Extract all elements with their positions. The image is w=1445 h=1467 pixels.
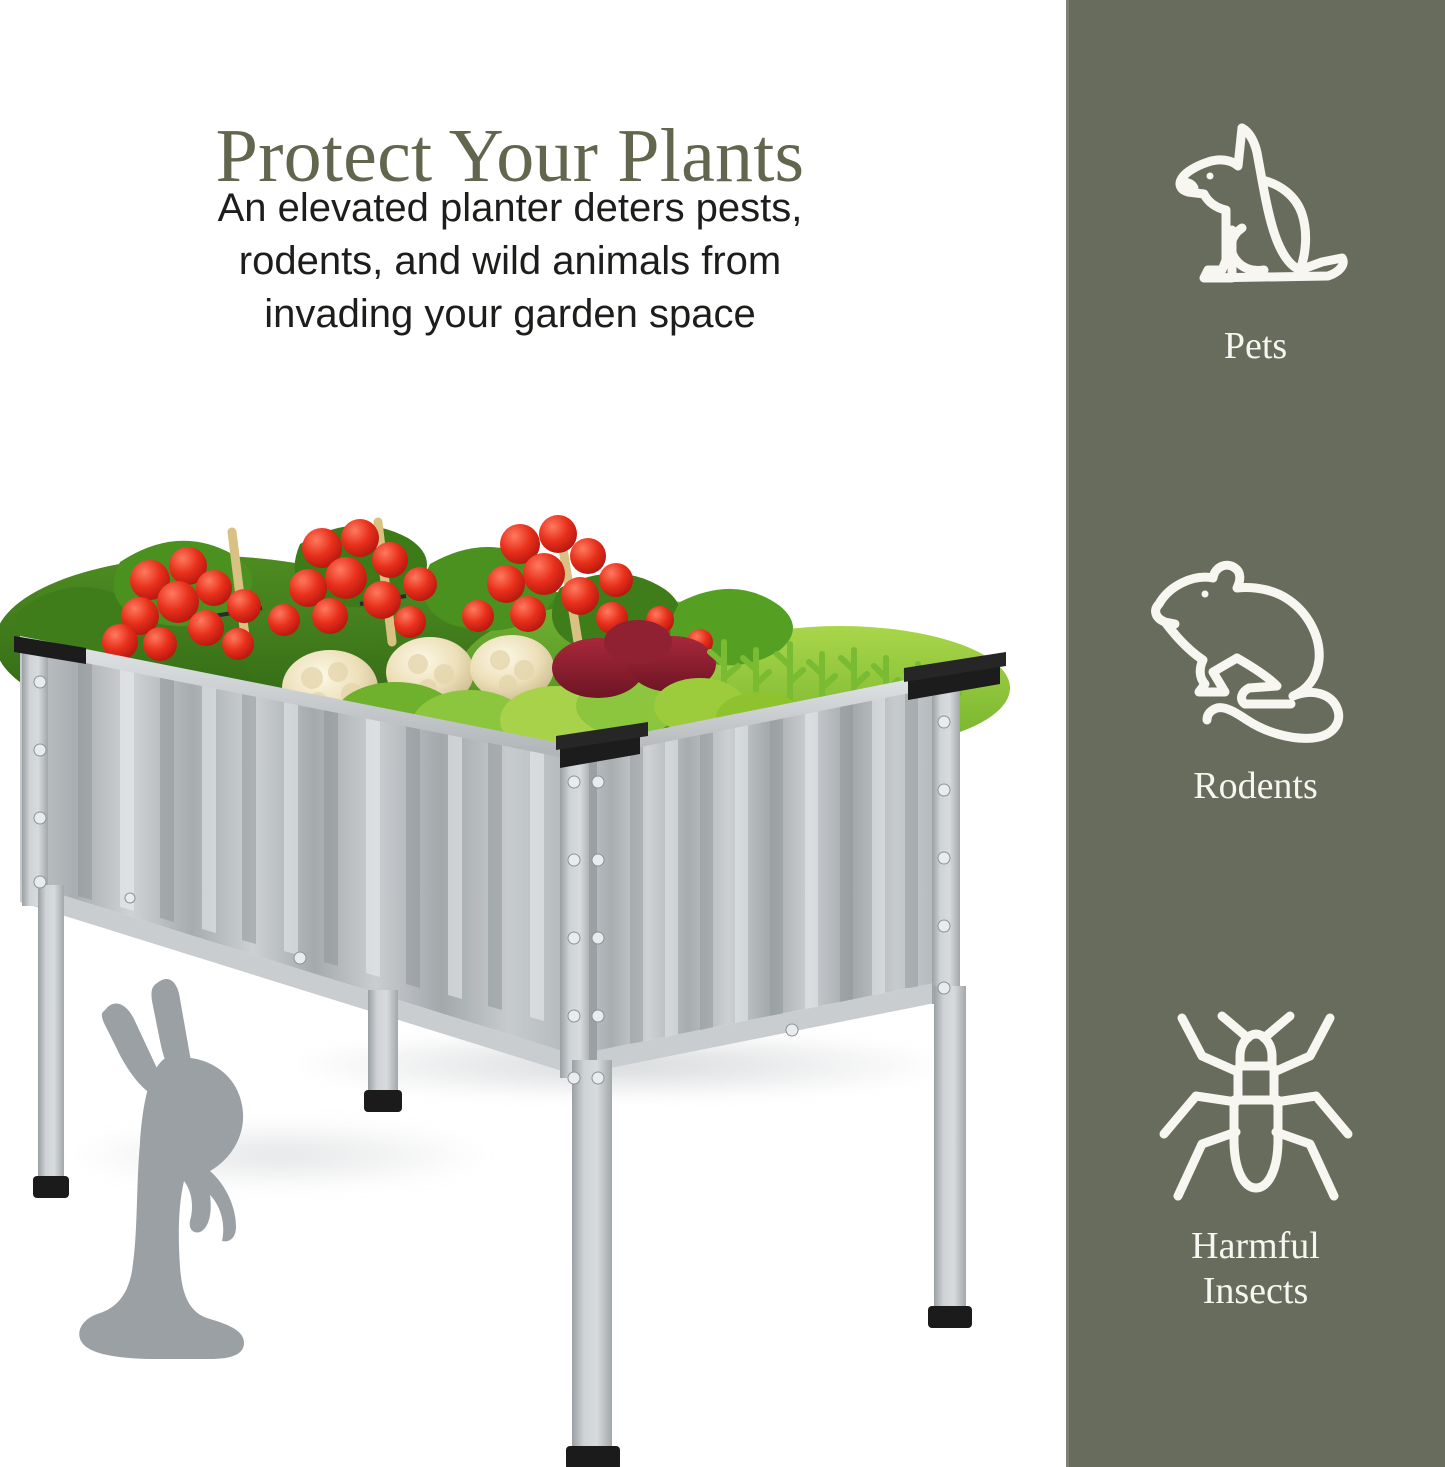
feature-item-insects: Harmful Insects: [1066, 1010, 1445, 1314]
black-foot-cap-rear-right: [928, 1306, 972, 1328]
subtitle-line-2: rodents, and wild animals from: [0, 235, 1020, 288]
feature-label-rodents: Rodents: [1066, 764, 1445, 809]
feature-label-insects-line-1: Harmful: [1066, 1224, 1445, 1269]
black-foot-cap-front-left: [364, 1090, 402, 1112]
feature-label-insects-line-2: Insects: [1066, 1269, 1445, 1314]
dog-icon: [1146, 110, 1366, 310]
leg-front-right: [572, 1060, 612, 1460]
feature-sidebar: Pets Rodents: [1066, 0, 1445, 1467]
corner-post-front-edge: [589, 748, 597, 1078]
feature-item-rodents: Rodents: [1066, 560, 1445, 809]
product-photo: [0, 430, 1065, 1467]
mouse-icon: [1141, 560, 1371, 750]
page-subtitle: An elevated planter deters pests, rodent…: [0, 182, 1020, 341]
corner-post-front: [560, 748, 592, 1078]
product-feature-graphic: Protect Your Plants An elevated planter …: [0, 0, 1445, 1467]
subtitle-line-1: An elevated planter deters pests,: [0, 182, 1020, 235]
insect-icon: [1156, 1010, 1356, 1210]
feature-label-pets: Pets: [1066, 324, 1445, 369]
rabbit-silhouette: [60, 975, 300, 1375]
left-content-pane: Protect Your Plants An elevated planter …: [0, 0, 1065, 1467]
leg-rear-right: [934, 986, 966, 1316]
black-foot-cap-front-right: [566, 1446, 620, 1467]
leg-front-left: [368, 990, 398, 1098]
feature-item-pets: Pets: [1066, 110, 1445, 369]
subtitle-line-3: invading your garden space: [0, 288, 1020, 341]
